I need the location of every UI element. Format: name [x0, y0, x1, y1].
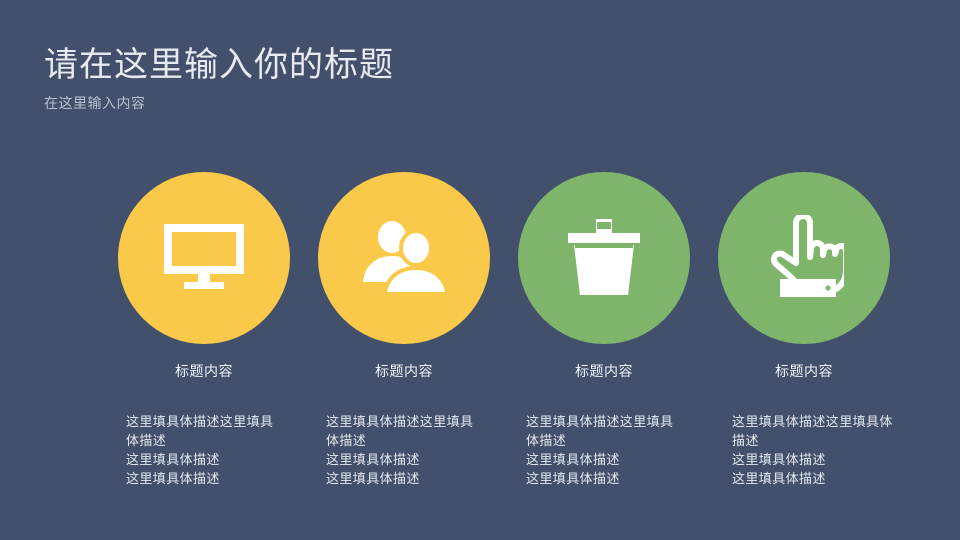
icon-circle-3[interactable]: [518, 172, 690, 344]
column-description-2: 这里填具体描述这里填具体描述 这里填具体描述 这里填具体描述: [326, 412, 486, 488]
slide-header: 请在这里输入你的标题 在这里输入内容: [44, 44, 664, 112]
icon-circle-2[interactable]: [318, 172, 490, 344]
column-title-4: 标题内容: [775, 361, 833, 381]
icon-circle-4[interactable]: [718, 172, 890, 344]
column-title-1: 标题内容: [175, 361, 233, 381]
column-title-3: 标题内容: [575, 361, 633, 381]
feature-column-1[interactable]: 标题内容 这里填具体描述这里填具体描述 这里填具体描述 这里填具体描述: [104, 172, 304, 512]
pointing-hand-icon: [764, 215, 844, 301]
feature-columns: 标题内容 这里填具体描述这里填具体描述 这里填具体描述 这里填具体描述 标题内容: [104, 172, 904, 512]
column-title-2: 标题内容: [375, 361, 433, 381]
monitor-icon: [162, 222, 246, 294]
page-title: 请在这里输入你的标题: [44, 44, 664, 86]
column-description-3: 这里填具体描述这里填具体描述 这里填具体描述 这里填具体描述: [526, 412, 686, 488]
feature-column-2[interactable]: 标题内容 这里填具体描述这里填具体描述 这里填具体描述 这里填具体描述: [304, 172, 504, 512]
feature-column-4[interactable]: 标题内容 这里填具体描述这里填具体描述 这里填具体描述 这里填具体描述: [704, 172, 904, 512]
users-icon: [361, 220, 447, 296]
trash-icon: [566, 219, 642, 297]
slide-canvas: 请在这里输入你的标题 在这里输入内容 标题内容 这里填具体描述这里填具体描述 这…: [0, 0, 960, 540]
feature-column-3[interactable]: 标题内容 这里填具体描述这里填具体描述 这里填具体描述 这里填具体描述: [504, 172, 704, 512]
column-description-4: 这里填具体描述这里填具体描述 这里填具体描述 这里填具体描述: [732, 412, 900, 488]
page-subtitle: 在这里输入内容: [44, 94, 664, 112]
column-description-1: 这里填具体描述这里填具体描述 这里填具体描述 这里填具体描述: [126, 412, 286, 488]
icon-circle-1[interactable]: [118, 172, 290, 344]
